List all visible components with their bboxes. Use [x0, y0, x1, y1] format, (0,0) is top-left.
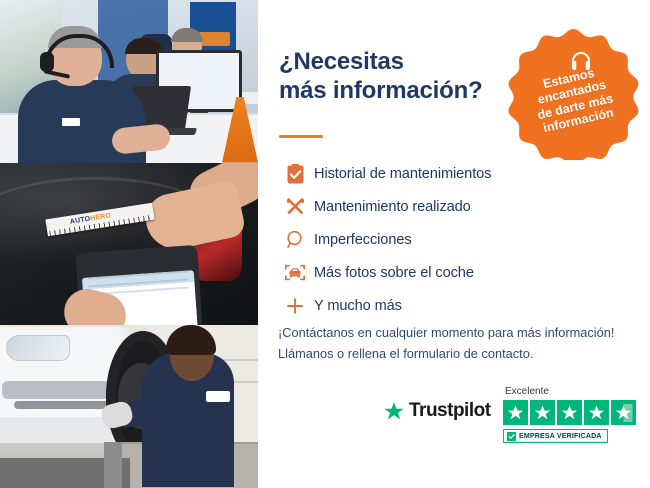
feature-label: Historial de mantenimientos: [314, 166, 491, 182]
vehicle-inspection-photo: AUTOHERO: [0, 163, 258, 326]
verified-company-badge: EMPRESA VERIFICADA: [503, 429, 608, 443]
trustpilot-rating-label: Excelente: [505, 386, 549, 397]
contact-line-2: Llámanos o rellena el formulario de cont…: [278, 344, 638, 365]
agent-name-badge: [62, 118, 80, 126]
car-focus-frame-icon: [276, 262, 314, 283]
trustpilot-widget[interactable]: Trustpilot Excelente: [383, 386, 645, 448]
mechanic-wheel-photo: [0, 325, 258, 488]
rating-star: [584, 400, 609, 425]
feature-label: Más fotos sobre el coche: [314, 265, 474, 281]
rating-star-half: [611, 400, 636, 425]
car-lift-post: [104, 442, 122, 488]
car-lower-grille: [14, 401, 110, 409]
feature-item-maintenance-done: Mantenimiento realizado: [276, 190, 636, 223]
feature-item-imperfections: Imperfecciones: [276, 223, 636, 256]
feature-item-much-more: Y mucho más: [276, 289, 636, 322]
plus-icon: [276, 296, 314, 316]
badge-text: Estamos encantados de darte más informac…: [507, 27, 640, 160]
title-underline-rule: [279, 135, 323, 138]
call-center-agents-photo: [0, 0, 258, 163]
clipboard-check-icon: [276, 163, 314, 184]
tools-cross-icon: [276, 196, 314, 217]
feature-label: Imperfecciones: [314, 232, 412, 248]
rating-star: [503, 400, 528, 425]
feature-list: Historial de mantenimientos Mantenimient…: [276, 157, 636, 322]
rating-star: [557, 400, 582, 425]
magnifier-icon: [276, 229, 314, 250]
feature-item-maintenance-history: Historial de mantenimientos: [276, 157, 636, 190]
information-banner: AUTOHERO ¿Nece: [0, 0, 650, 488]
feature-item-more-photos: Más fotos sobre el coche: [276, 256, 636, 289]
page-title-line-2: más información?: [279, 76, 529, 105]
mechanic-name-badge: [206, 391, 230, 402]
trustpilot-wordmark: Trustpilot: [409, 400, 491, 422]
car-headlight: [6, 335, 70, 361]
photo-strip: AUTOHERO: [0, 0, 258, 488]
page-title-line-1: ¿Necesitas: [279, 47, 529, 76]
trustpilot-star-icon: [383, 401, 405, 422]
contact-line-1: ¡Contáctanos en cualquier momento para m…: [278, 323, 638, 344]
check-icon: [507, 432, 516, 441]
contact-copy: ¡Contáctanos en cualquier momento para m…: [278, 323, 638, 364]
trustpilot-star-rating: [503, 400, 636, 425]
page-title: ¿Necesitas más información?: [279, 47, 529, 106]
feature-label: Mantenimiento realizado: [314, 199, 471, 215]
promo-starburst-badge: Estamos encantados de darte más informac…: [507, 27, 640, 160]
feature-label: Y mucho más: [314, 298, 402, 314]
verified-label: EMPRESA VERIFICADA: [519, 433, 602, 440]
rating-star: [530, 400, 555, 425]
car-grille: [2, 381, 120, 399]
trustpilot-logo[interactable]: Trustpilot: [383, 400, 491, 422]
